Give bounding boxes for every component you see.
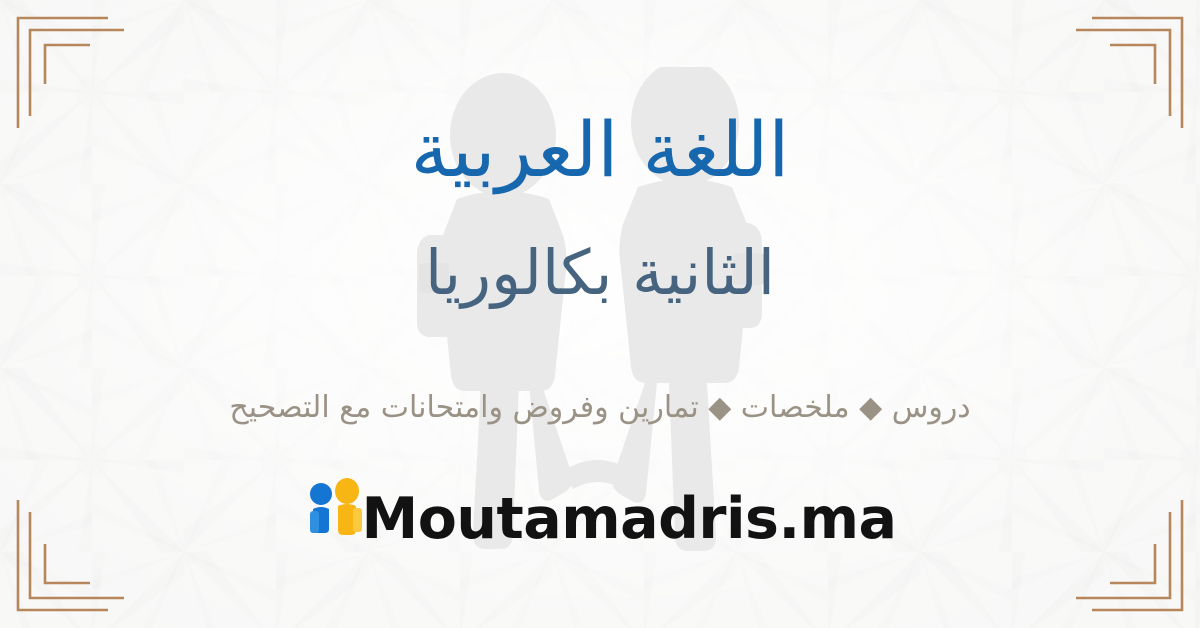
logo-wordmark: Moutamadris.ma: [362, 491, 897, 548]
page-title: اللغة العربية: [411, 112, 790, 188]
page-subtitle: الثانية بكالوريا: [425, 242, 775, 304]
two-students-icon: [304, 478, 368, 550]
poster-canvas: اللغة العربية الثانية بكالوريا دروس ◆ مل…: [0, 0, 1200, 628]
site-logo: Moutamadris.ma: [304, 478, 897, 548]
page-description: دروس ◆ ملخصات ◆ تمارين وفروض وامتحانات م…: [229, 390, 970, 426]
poster-content: اللغة العربية الثانية بكالوريا دروس ◆ مل…: [0, 0, 1200, 628]
